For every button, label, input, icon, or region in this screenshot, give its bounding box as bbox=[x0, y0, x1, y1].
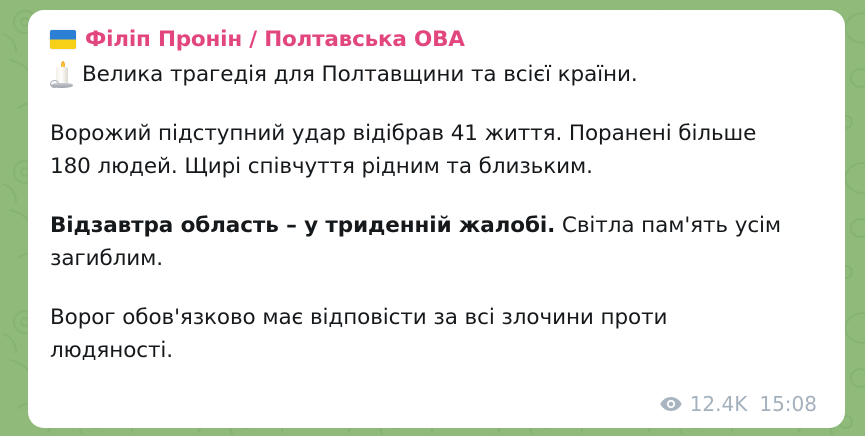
headline-row: Велика трагедія для Полтавщини та всієї … bbox=[50, 58, 823, 91]
message-paragraph: Ворог обов'язково має відповісти за всі … bbox=[50, 301, 823, 367]
paragraph-line: Відзавтра область – у триденній жалобі. … bbox=[50, 209, 823, 242]
paragraph-line: Ворожий підступний удар відібрав 41 житт… bbox=[50, 117, 823, 150]
paragraph-line: Ворог обов'язково має відповісти за всі … bbox=[50, 301, 823, 334]
message-meta: 12.4K 15:08 bbox=[660, 392, 817, 416]
message-paragraph: Відзавтра область – у триденній жалобі. … bbox=[50, 209, 823, 275]
channel-name[interactable]: Філіп Пронін / Полтавська ОВА bbox=[85, 27, 465, 52]
paragraph-line: загиблим. bbox=[50, 242, 823, 275]
candle-icon bbox=[50, 59, 74, 89]
paragraph-line: 180 людей. Щирі співчуття рідним та близ… bbox=[50, 150, 823, 183]
candle-base-icon bbox=[51, 83, 73, 88]
message-timestamp: 15:08 bbox=[759, 392, 817, 416]
paragraph-line-rest: Світла пам'ять усім bbox=[555, 213, 781, 238]
view-count: 12.4K bbox=[690, 392, 748, 416]
message-headline: Велика трагедія для Полтавщини та всієї … bbox=[82, 58, 638, 91]
paragraph-line: людяності. bbox=[50, 334, 823, 367]
mourning-announcement: Відзавтра область – у триденній жалобі. bbox=[50, 213, 555, 238]
message-bubble[interactable]: Філіп Пронін / Полтавська ОВА Велика тра… bbox=[28, 10, 845, 428]
channel-header: Філіп Пронін / Полтавська ОВА bbox=[50, 24, 823, 54]
message-paragraph: Ворожий підступний удар відібрав 41 житт… bbox=[50, 117, 823, 183]
ukraine-flag-icon bbox=[50, 30, 76, 49]
eye-icon bbox=[660, 396, 682, 412]
